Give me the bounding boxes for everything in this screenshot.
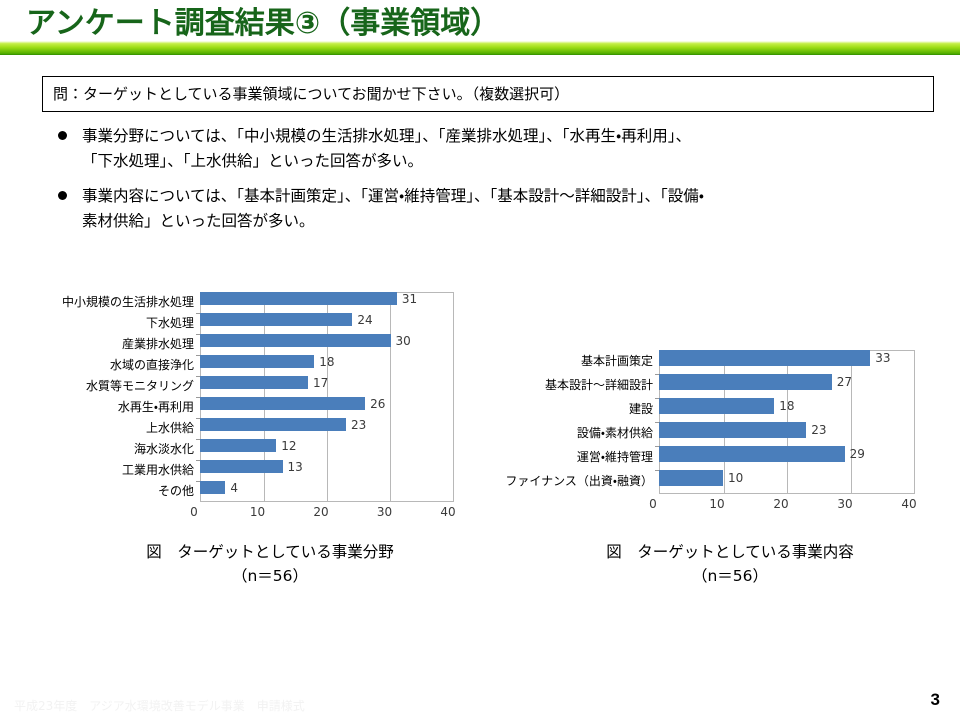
bar: 13 — [200, 460, 283, 473]
bar-value-label: 33 — [875, 351, 890, 365]
bar: 27 — [659, 374, 832, 390]
chart-row: その他4 — [24, 481, 454, 502]
category-label: その他 — [24, 485, 200, 498]
bar-cell: 27 — [659, 374, 915, 398]
bar-cell: 18 — [659, 398, 915, 422]
bar-cell: 17 — [200, 376, 454, 397]
x-axis-tick-label: 10 — [250, 505, 265, 519]
axis-spacer — [468, 494, 653, 516]
chart-row: 上水供給23 — [24, 418, 454, 439]
bar: 17 — [200, 376, 308, 389]
x-axis-tick-label: 30 — [377, 505, 392, 519]
chart-row: 建設18 — [468, 398, 928, 422]
category-label: 設備・素材供給 — [468, 427, 659, 440]
bullet-item-2-line-2: 素材供給」といった回答が多い。 — [82, 209, 944, 234]
bullet-item-1-line-1: 事業分野については、「中小規模の生活排水処理」、「産業排水処理」、「水再生・再利… — [82, 124, 944, 149]
x-axis-tick-label: 10 — [709, 497, 724, 511]
bar-value-label: 18 — [319, 355, 334, 369]
category-label: 水域の直接浄化 — [24, 359, 200, 372]
question-box: 問：ターゲットとしている事業領域についてお聞かせ下さい。（複数選択可） — [42, 76, 934, 112]
bullet-item-1: 事業分野については、「中小規模の生活排水処理」、「産業排水処理」、「水再生・再利… — [54, 124, 944, 174]
caption-sample-size: （n＝56） — [520, 564, 940, 588]
category-label: 基本計画策定 — [468, 355, 659, 368]
chart-x-axis: 010203040 — [468, 494, 928, 516]
caption-main-text: 図 ターゲットとしている事業分野 — [60, 540, 480, 564]
bar: 33 — [659, 350, 870, 366]
bar: 12 — [200, 439, 276, 452]
category-label: 水質等モニタリング — [24, 380, 200, 393]
bar-cell: 31 — [200, 292, 454, 313]
bar-cell: 10 — [659, 470, 915, 494]
chart-caption-business-fields: 図 ターゲットとしている事業分野 （n＝56） — [60, 540, 480, 588]
bar: 26 — [200, 397, 365, 410]
category-label: 海水淡水化 — [24, 443, 200, 456]
category-label: 水再生・再利用 — [24, 401, 200, 414]
question-text: 問：ターゲットとしている事業領域についてお聞かせ下さい。（複数選択可） — [53, 84, 569, 104]
bar: 24 — [200, 313, 352, 326]
x-axis-tick-label: 20 — [773, 497, 788, 511]
page-number: 3 — [931, 690, 940, 710]
bullet-item-2-line-1: 事業内容については、「基本計画策定」、「運営・維持管理」、「基本設計〜詳細設計」… — [82, 184, 944, 209]
category-label: 運営・維持管理 — [468, 451, 659, 464]
chart-plot-area: 基本計画策定33基本設計〜詳細設計27建設18設備・素材供給23運営・維持管理2… — [468, 350, 928, 494]
bar-value-label: 17 — [313, 376, 328, 390]
chart-row: 水域の直接浄化18 — [24, 355, 454, 376]
bullet-list: 事業分野については、「中小規模の生活排水処理」、「産業排水処理」、「水再生・再利… — [54, 124, 944, 244]
bar-cell: 23 — [200, 418, 454, 439]
bar-cell: 26 — [200, 397, 454, 418]
x-axis-ticks: 010203040 — [194, 502, 448, 524]
bar-value-label: 12 — [281, 439, 296, 453]
footer-note: 平成23年度 アジア水環境改善モデル事業 申請様式 — [14, 697, 305, 714]
category-label: 下水処理 — [24, 317, 200, 330]
bar-cell: 13 — [200, 460, 454, 481]
category-label: ファイナンス（出資・融資） — [468, 475, 659, 488]
bar: 23 — [200, 418, 346, 431]
category-label: 産業排水処理 — [24, 338, 200, 351]
bar-cell: 30 — [200, 334, 454, 355]
bullet-item-1-line-2: 「下水処理」、「上水供給」といった回答が多い。 — [82, 149, 944, 174]
bullet-dot-icon — [58, 131, 67, 140]
caption-sample-size: （n＝56） — [60, 564, 480, 588]
bar-value-label: 13 — [288, 460, 303, 474]
chart-row: 工業用水供給13 — [24, 460, 454, 481]
bar: 4 — [200, 481, 225, 494]
title-underline-rule — [0, 41, 960, 55]
chart-row: 基本設計〜詳細設計27 — [468, 374, 928, 398]
bar: 29 — [659, 446, 845, 462]
bar-cell: 24 — [200, 313, 454, 334]
bar-value-label: 23 — [351, 418, 366, 432]
chart-row: 下水処理24 — [24, 313, 454, 334]
bullet-item-2: 事業内容については、「基本計画策定」、「運営・維持管理」、「基本設計〜詳細設計」… — [54, 184, 944, 234]
chart-row: ファイナンス（出資・融資）10 — [468, 470, 928, 494]
bar: 18 — [200, 355, 314, 368]
category-label: 工業用水供給 — [24, 464, 200, 477]
bar-value-label: 26 — [370, 397, 385, 411]
axis-spacer — [24, 502, 194, 524]
caption-main-text: 図 ターゲットとしている事業内容 — [520, 540, 940, 564]
chart-x-axis: 010203040 — [24, 502, 454, 524]
chart-row: 中小規模の生活排水処理31 — [24, 292, 454, 313]
chart-business-content: 基本計画策定33基本設計〜詳細設計27建設18設備・素材供給23運営・維持管理2… — [468, 350, 928, 516]
bar-cell: 4 — [200, 481, 454, 502]
bar-cell: 33 — [659, 350, 915, 374]
bar-value-label: 30 — [396, 334, 411, 348]
chart-business-fields: 中小規模の生活排水処理31下水処理24産業排水処理30水域の直接浄化18水質等モ… — [24, 292, 454, 524]
bar-value-label: 27 — [837, 375, 852, 389]
x-axis-tick-label: 20 — [313, 505, 328, 519]
x-axis-tick-label: 0 — [190, 505, 198, 519]
bar: 10 — [659, 470, 723, 486]
chart-row: 水質等モニタリング17 — [24, 376, 454, 397]
x-axis-ticks: 010203040 — [653, 494, 909, 516]
x-axis-tick-label: 30 — [837, 497, 852, 511]
chart-row: 産業排水処理30 — [24, 334, 454, 355]
bar: 18 — [659, 398, 774, 414]
bullet-dot-icon — [58, 191, 67, 200]
x-axis-tick-label: 40 — [901, 497, 916, 511]
category-label: 基本設計〜詳細設計 — [468, 379, 659, 392]
bar-value-label: 24 — [357, 313, 372, 327]
x-axis-tick-label: 0 — [649, 497, 657, 511]
bar-value-label: 10 — [728, 471, 743, 485]
bar-value-label: 4 — [230, 481, 238, 495]
chart-plot-area: 中小規模の生活排水処理31下水処理24産業排水処理30水域の直接浄化18水質等モ… — [24, 292, 454, 502]
bar-value-label: 23 — [811, 423, 826, 437]
chart-row: 海水淡水化12 — [24, 439, 454, 460]
bar: 31 — [200, 292, 397, 305]
bar-value-label: 31 — [402, 292, 417, 306]
bar-value-label: 18 — [779, 399, 794, 413]
chart-row: 基本計画策定33 — [468, 350, 928, 374]
chart-caption-business-content: 図 ターゲットとしている事業内容 （n＝56） — [520, 540, 940, 588]
bar-cell: 12 — [200, 439, 454, 460]
chart-row: 設備・素材供給23 — [468, 422, 928, 446]
category-label: 建設 — [468, 403, 659, 416]
bar-cell: 23 — [659, 422, 915, 446]
x-axis-tick-label: 40 — [440, 505, 455, 519]
category-label: 上水供給 — [24, 422, 200, 435]
bar-cell: 29 — [659, 446, 915, 470]
bar: 23 — [659, 422, 806, 438]
category-label: 中小規模の生活排水処理 — [24, 296, 200, 309]
page-title: アンケート調査結果③（事業領域） — [26, 4, 500, 44]
bar: 30 — [200, 334, 391, 347]
bar-cell: 18 — [200, 355, 454, 376]
chart-row: 運営・維持管理29 — [468, 446, 928, 470]
bar-value-label: 29 — [850, 447, 865, 461]
chart-row: 水再生・再利用26 — [24, 397, 454, 418]
